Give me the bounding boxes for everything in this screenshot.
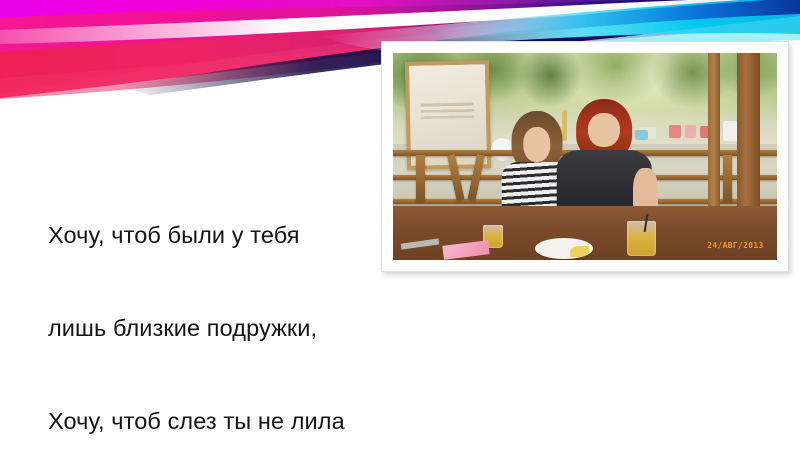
- poem-line: Хочу, чтоб слез ты не лила: [48, 406, 378, 437]
- photograph: 24/АВГ/2013: [393, 53, 777, 260]
- drink-glass-right: [627, 221, 656, 256]
- poem-text: Хочу, чтоб были у тебя лишь близкие подр…: [48, 158, 378, 450]
- poem-line: лишь близкие подружки,: [48, 313, 378, 344]
- lemon-slice: [570, 246, 589, 257]
- photo-datestamp: 24/АВГ/2013: [707, 241, 763, 250]
- face: [588, 113, 620, 148]
- poem-line: Хочу, чтоб были у тебя: [48, 220, 378, 251]
- photo-frame: 24/АВГ/2013: [381, 41, 789, 272]
- slide: Хочу, чтоб были у тебя лишь близкие подр…: [0, 0, 800, 450]
- photo-scene: 24/АВГ/2013: [393, 53, 777, 260]
- face: [523, 127, 550, 162]
